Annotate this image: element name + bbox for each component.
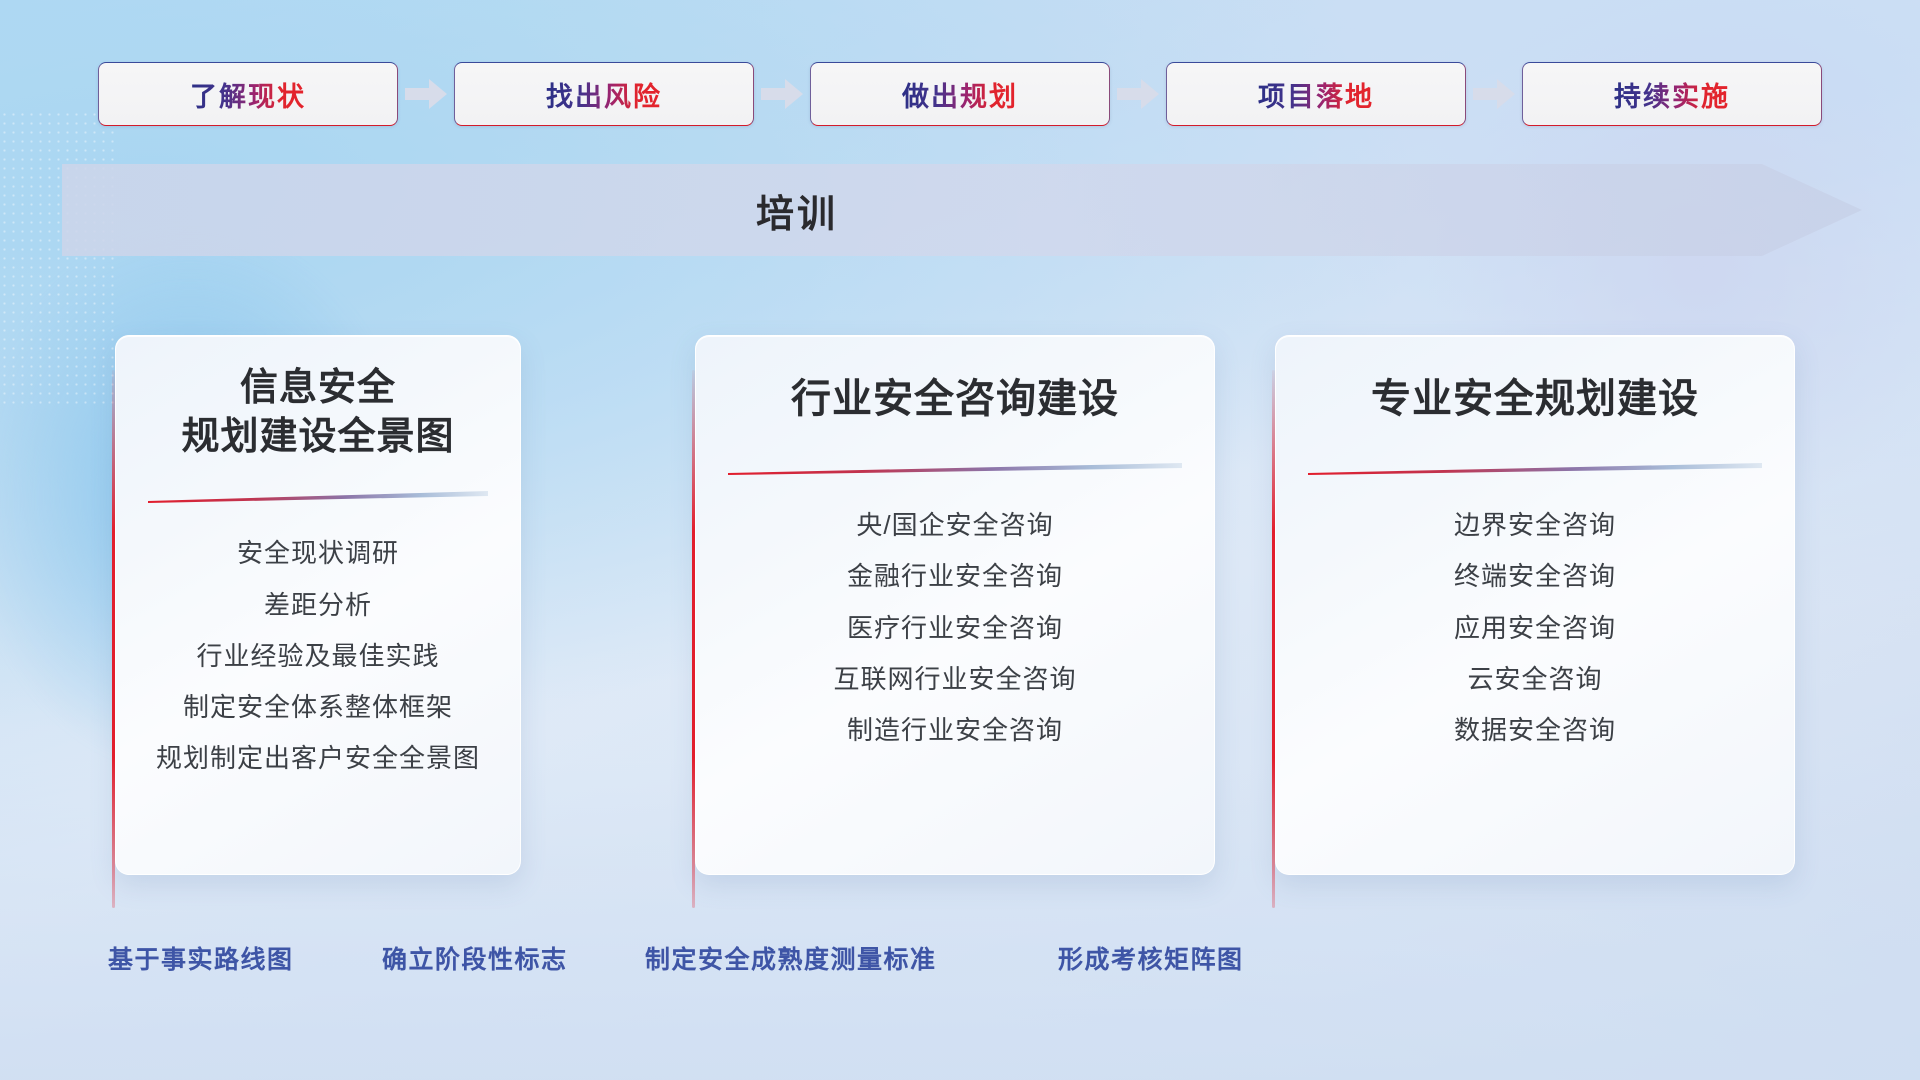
list-item: 互联网行业安全咨询 — [833, 659, 1076, 699]
step-box-4[interactable]: 项目落地 — [1166, 62, 1466, 126]
training-banner-arrow: 培训 — [62, 164, 1862, 256]
step-box-2[interactable]: 找出风险 — [454, 62, 754, 126]
process-step-flow: 了解现状 找出风险 做出规划 项目落地 持续实施 — [0, 62, 1920, 126]
list-item: 差距分析 — [264, 585, 372, 625]
step-arrow-icon-2 — [754, 62, 810, 126]
card-item-list: 边界安全咨询 终端安全咨询 应用安全咨询 云安全咨询 数据安全咨询 — [1302, 505, 1768, 750]
step-label-1: 了解现状 — [190, 75, 306, 114]
caption-fact-based-roadmap: 基于事实路线图 — [108, 940, 294, 976]
card-item-list: 安全现状调研 差距分析 行业经验及最佳实践 制定安全体系整体框架 规划制定出客户… — [142, 533, 494, 778]
list-item: 安全现状调研 — [237, 533, 399, 573]
card-title: 信息安全 规划建设全景图 — [142, 364, 494, 461]
card-divider — [1308, 461, 1762, 475]
card-information-security-blueprint[interactable]: 信息安全 规划建设全景图 安全现状调研 — [115, 335, 521, 875]
step-box-3[interactable]: 做出规划 — [810, 62, 1110, 126]
list-item: 云安全咨询 — [1467, 659, 1602, 699]
list-item: 数据安全咨询 — [1454, 710, 1616, 750]
list-item: 制定安全体系整体框架 — [183, 687, 453, 727]
card-title: 专业安全规划建设 — [1302, 374, 1768, 425]
caption-assessment-matrix: 形成考核矩阵图 — [1058, 940, 1244, 976]
list-item: 边界安全咨询 — [1454, 505, 1616, 545]
banner-title: 培训 — [62, 164, 1532, 256]
step-box-1[interactable]: 了解现状 — [98, 62, 398, 126]
card-divider — [728, 461, 1182, 475]
step-arrow-icon-1 — [398, 62, 454, 126]
list-item: 行业经验及最佳实践 — [196, 636, 439, 676]
list-item: 终端安全咨询 — [1454, 556, 1616, 596]
caption-row: 基于事实路线图 确立阶段性标志 制定安全成熟度测量标准 形成考核矩阵图 — [0, 940, 1920, 986]
list-item: 医疗行业安全咨询 — [847, 608, 1063, 648]
step-label-2: 找出风险 — [546, 75, 662, 114]
step-label-5: 持续实施 — [1614, 75, 1730, 114]
step-label-3: 做出规划 — [902, 75, 1018, 114]
caption-maturity-measurement: 制定安全成熟度测量标准 — [645, 940, 937, 976]
card-divider — [148, 489, 488, 503]
card-group: 信息安全 规划建设全景图 安全现状调研 — [0, 335, 1920, 875]
card-item-list: 央/国企安全咨询 金融行业安全咨询 医疗行业安全咨询 互联网行业安全咨询 制造行… — [722, 505, 1188, 750]
list-item: 制造行业安全咨询 — [847, 710, 1063, 750]
list-item: 央/国企安全咨询 — [856, 505, 1053, 545]
step-box-5[interactable]: 持续实施 — [1522, 62, 1822, 126]
step-arrow-icon-3 — [1110, 62, 1166, 126]
card-professional-security-planning[interactable]: 专业安全规划建设 边界安全咨询 — [1275, 335, 1795, 875]
step-arrow-icon-4 — [1466, 62, 1522, 126]
card-industry-security-consulting[interactable]: 行业安全咨询建设 央/国企安全咨询 — [695, 335, 1215, 875]
caption-phase-milestones: 确立阶段性标志 — [382, 940, 568, 976]
list-item: 应用安全咨询 — [1454, 608, 1616, 648]
step-label-4: 项目落地 — [1258, 75, 1374, 114]
list-item: 金融行业安全咨询 — [847, 556, 1063, 596]
list-item: 规划制定出客户安全全景图 — [156, 738, 480, 778]
card-title: 行业安全咨询建设 — [722, 374, 1188, 425]
